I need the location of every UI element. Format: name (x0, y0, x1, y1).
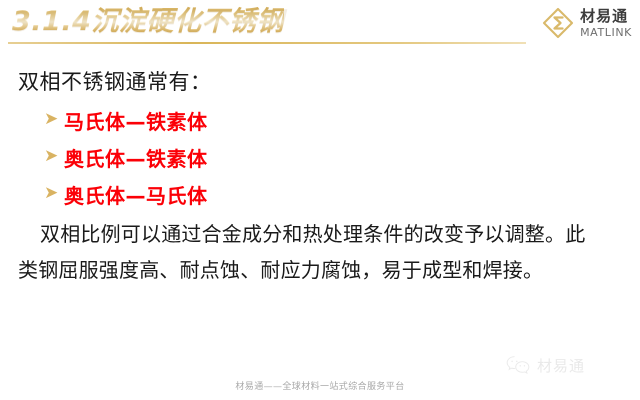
brand-logo-text: 材易通 MATLINK (580, 9, 632, 38)
watermark-label: 材易通 (537, 355, 585, 376)
arrow-bullet-icon: ➤ (44, 185, 64, 202)
list-item: ➤ 奥氏体—马氏体 (44, 176, 208, 213)
paragraph-line: 双相比例可以通过合金成分和热处理条件的改变予以调整。此 (18, 216, 626, 252)
paragraph-line: 类钢屈服强度高、耐点蚀、耐应力腐蚀，易于成型和焊接。 (18, 252, 626, 288)
lead-sentence: 双相不锈钢通常有： (18, 66, 212, 96)
brand-name-cn: 材易通 (580, 9, 632, 24)
list-item-label: 马氏体—铁素体 (64, 106, 208, 135)
slide-header: 3.1.4沉淀硬化不锈钢 材易通 MATLINK (0, 0, 640, 52)
brand-name-en: MATLINK (580, 27, 632, 38)
list-item: ➤ 马氏体—铁素体 (44, 102, 208, 139)
page-title: 3.1.4沉淀硬化不锈钢 (12, 5, 284, 39)
arrow-bullet-icon: ➤ (44, 111, 64, 128)
title-divider (8, 42, 526, 44)
footer-caption: 材易通——全球材料一站式综合服务平台 (0, 379, 640, 392)
list-item-label: 奥氏体—马氏体 (64, 180, 208, 209)
list-item: ➤ 奥氏体—铁素体 (44, 139, 208, 176)
wechat-icon (505, 354, 531, 376)
slide-canvas: 3.1.4沉淀硬化不锈钢 材易通 MATLINK 双相不锈钢通常有： ➤ (0, 0, 640, 400)
arrow-bullet-icon: ➤ (44, 148, 64, 165)
body-paragraph: 双相比例可以通过合金成分和热处理条件的改变予以调整。此 类钢屈服强度高、耐点蚀、… (18, 216, 626, 288)
list-item-label: 奥氏体—铁素体 (64, 143, 208, 172)
wechat-watermark: 材易通 (505, 354, 585, 376)
brand-logo: 材易通 MATLINK (541, 6, 632, 40)
duplex-phase-list: ➤ 马氏体—铁素体 ➤ 奥氏体—铁素体 ➤ 奥氏体—马氏体 (44, 102, 208, 213)
matlink-diamond-logo-icon (541, 6, 575, 40)
